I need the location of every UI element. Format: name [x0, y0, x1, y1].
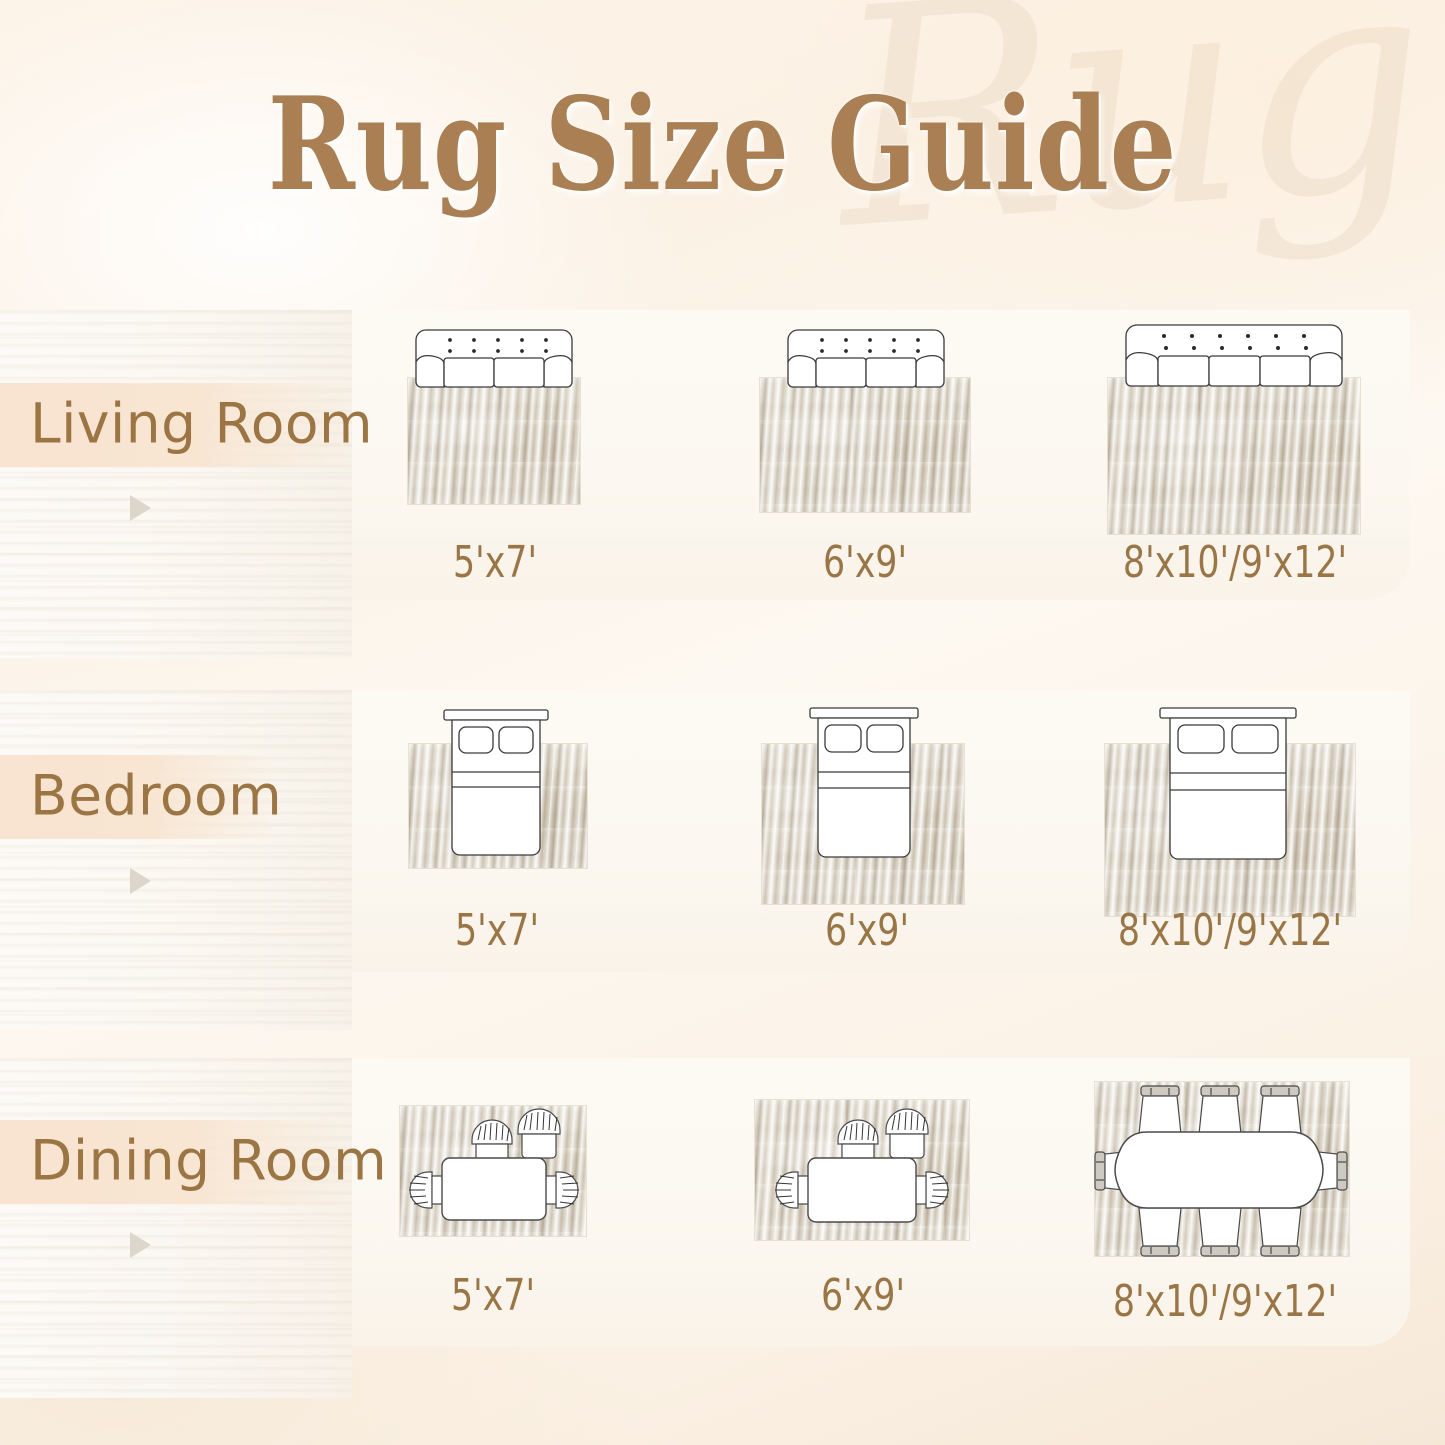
row-label-dining-room: Dining Room — [30, 1129, 387, 1193]
size-label-living-room-5x7: 5'x7' — [394, 537, 596, 588]
left-texture-panel-living-room — [0, 310, 352, 658]
rug-size-guide-infographic: Rug Rug Size Guide Living Room 5'x7' — [0, 0, 1445, 1445]
sofa-living-room-6x9 — [782, 328, 950, 390]
left-texture-panel-bedroom — [0, 690, 352, 1030]
size-label-dining-room-5x7: 5'x7' — [392, 1270, 594, 1321]
page-title: Rug Size Guide — [130, 72, 1315, 219]
bed-bedroom-6x9 — [808, 706, 920, 866]
dining-set-dining-room-8x10 — [1085, 1078, 1361, 1268]
size-label-bedroom-5x7: 5'x7' — [396, 905, 598, 956]
sofa-living-room-8x10 — [1120, 323, 1348, 391]
dining-set-dining-room-6x9 — [748, 1098, 974, 1250]
rug-living-room-8x10 — [1108, 378, 1360, 534]
sofa-living-room-5x7 — [410, 328, 578, 390]
label-band-living-room: Living Room — [0, 383, 352, 467]
play-triangle-icon-living-room — [130, 495, 151, 521]
size-label-bedroom-6x9: 6'x9' — [766, 905, 968, 956]
row-label-living-room: Living Room — [30, 392, 373, 456]
size-label-living-room-8x10: 8'x10'/9'x12' — [1107, 537, 1362, 588]
size-label-dining-room-6x9: 6'x9' — [762, 1270, 964, 1321]
label-band-dining-room: Dining Room — [0, 1120, 345, 1204]
bed-bedroom-8x10 — [1158, 706, 1298, 868]
rug-living-room-5x7 — [408, 378, 580, 504]
label-band-bedroom: Bedroom — [0, 755, 270, 839]
bed-bedroom-5x7 — [442, 708, 550, 863]
size-label-living-room-6x9: 6'x9' — [764, 537, 966, 588]
size-label-dining-room-8x10: 8'x10'/9'x12' — [1097, 1276, 1352, 1327]
play-triangle-icon-dining-room — [130, 1232, 151, 1258]
play-triangle-icon-bedroom — [130, 868, 151, 894]
dining-set-dining-room-5x7 — [390, 1100, 596, 1250]
rug-living-room-6x9 — [760, 378, 970, 512]
left-texture-panel-dining-room — [0, 1058, 352, 1398]
size-label-bedroom-8x10: 8'x10'/9'x12' — [1102, 905, 1357, 956]
row-label-bedroom: Bedroom — [30, 764, 282, 828]
